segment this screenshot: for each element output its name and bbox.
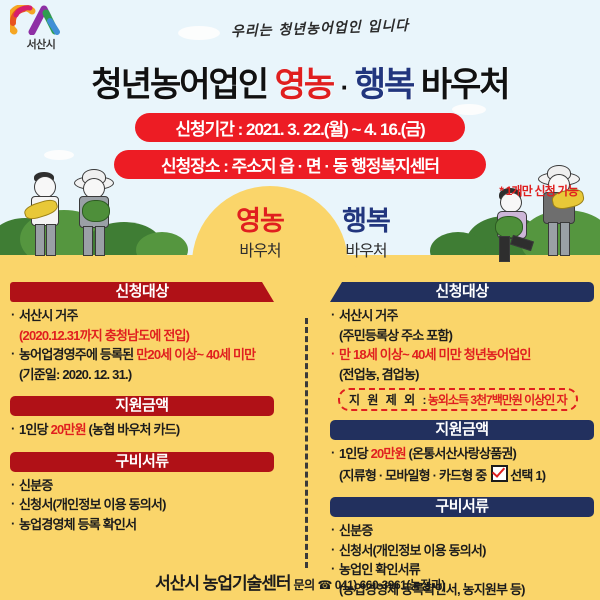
voucher-sub-farming: 바우처 [212,237,308,261]
section-items-amount-right: 1인당 20만원 (온통서산사랑상품권) (지류형 · 모바일형 · 카드형 중… [308,445,596,484]
list-item: 1인당 20만원 (온통서산사랑상품권) [330,445,596,463]
seosan-city-logo: 서산시 [8,5,74,51]
list-item: 1인당 20만원 (농협 바우처 카드) [10,421,298,439]
title-part2: 바우처 [421,66,509,104]
list-item: 서산시 거주 [330,307,596,325]
section-heading-documents-left: 구비서류 [10,452,274,472]
farmer-illustration [66,170,122,258]
section-heading-documents-right: 구비서류 [330,497,594,517]
page-title: 청년농어업인 영농 · 행복 바우처 [0,57,600,106]
section-items-eligibility-left: 서산시 거주 (2020.12.31까지 충청남도에 전입) 농어업경영주에 등… [10,307,298,383]
title-part1: 청년농어업인 [91,66,267,104]
logo-label: 서산시 [8,36,74,52]
application-place-pill: 신청장소 : 주소지 읍 · 면 · 동 행정복지센터 [114,150,486,179]
list-item: 만 18세 이상~ 40세 미만 청년농어업인 [330,346,596,364]
list-item: 농어업경영주에 등록된 만20세 이상~ 40세 미만 [10,346,298,364]
farmer-illustration [18,172,72,258]
spacer [10,385,298,396]
section-heading-eligibility-right: 신청대상 [330,282,594,302]
list-item: 신분증 [330,522,596,540]
list-item-with-checkbox: (지류형 · 모바일형 · 카드형 중 선택 1) [330,465,596,485]
section-items-eligibility-right: 서산시 거주 (주민등록상 주소 포함) 만 18세 이상~ 40세 미만 청년… [308,307,596,383]
left-column: 신청대상 서산시 거주 (2020.12.31까지 충청남도에 전입) 농어업경… [10,282,298,535]
footer-organization: 서산시 농업기술센터 [155,574,290,593]
section-heading-eligibility-left: 신청대상 [10,282,274,302]
footer: 서산시 농업기술센터문의 ☎ 041) 660-3961(농정과) [0,569,600,594]
voucher-label-happiness: 행복 바우처 [318,208,414,261]
voucher-name-happiness: 행복 [318,208,414,235]
application-period-pill: 신청기간 : 2021. 3. 22.(월) ~ 4. 16.(금) [135,113,465,142]
voucher-name-farming: 영농 [212,208,308,235]
list-item: (전업농, 겸업농) [330,366,596,384]
list-item: 서산시 거주 [10,307,298,325]
spacer [308,486,596,497]
section-items-documents-left: 신분증 신청서(개인정보 이용 동의서) 농업경영체 등록 확인서 [10,477,298,534]
exclusion-notice: 지 원 제 외 : 농외소득 3천7백만원 이상인 자 [338,388,578,411]
payment-type-text: (지류형 · 모바일형 · 카드형 중 선택 1) [339,468,545,483]
title-red-word: 영농 [275,66,334,104]
title-separator: · [341,72,348,102]
list-item: (주민등록상 주소 포함) [330,327,596,345]
list-item: 신분증 [10,477,298,495]
title-blue-word: 행복 [355,66,414,104]
checkbox-icon[interactable] [491,465,508,482]
right-column: 신청대상 서산시 거주 (주민등록상 주소 포함) 만 18세 이상~ 40세 … [308,282,596,600]
section-items-amount-left: 1인당 20만원 (농협 바우처 카드) [10,421,298,439]
cloud-icon [44,150,74,160]
list-item: (2020.12.31까지 충청남도에 전입) [10,327,298,345]
list-item: (기준일: 2020. 12. 31.) [10,366,298,384]
city-emblem-icon [10,5,72,35]
section-heading-amount-left: 지원금액 [10,396,274,416]
list-item: 신청서(개인정보 이용 동의서) [330,542,596,560]
spacer [10,441,298,452]
list-item: 농업경영체 등록 확인서 [10,516,298,534]
farmer-illustration [534,166,592,258]
poster: 서산시 우리는 청년농어업인 입니다 청년농어업인 영농 · 행복 바우처 신청… [0,0,600,600]
only-one-note: * 1개만 신청 가능 [499,182,578,199]
voucher-sub-happiness: 바우처 [318,237,414,261]
section-heading-amount-right: 지원금액 [330,420,594,440]
voucher-label-farming: 영농 바우처 [212,208,308,261]
list-item: 신청서(개인정보 이용 동의서) [10,496,298,514]
footer-contact: 문의 ☎ 041) 660-3961(농정과) [294,578,445,592]
